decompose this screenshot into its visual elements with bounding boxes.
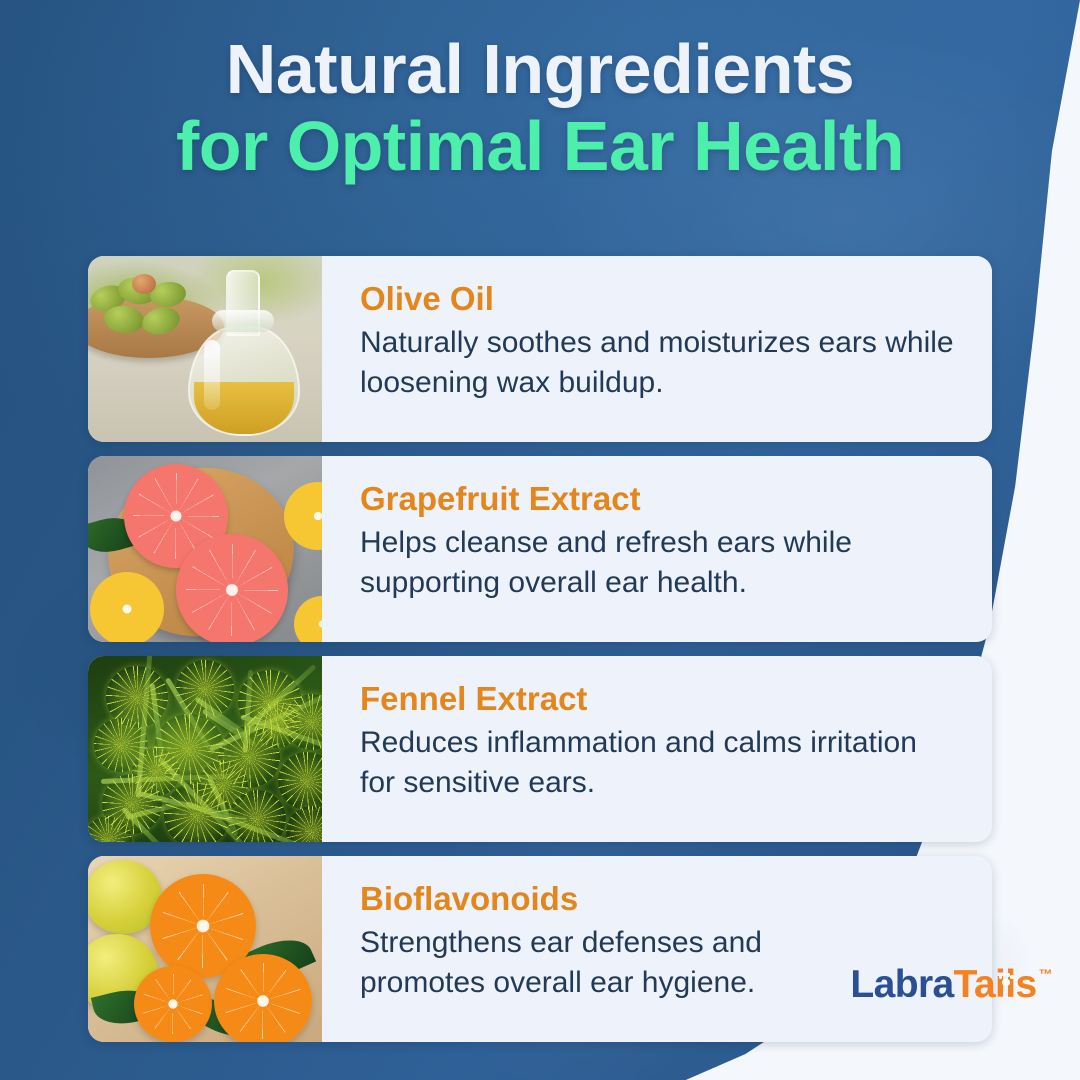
ingredient-card-list: Olive Oil Naturally soothes and moisturi… <box>88 256 992 1042</box>
olive-oil-text: Olive Oil Naturally soothes and moisturi… <box>322 256 992 442</box>
card-description: Helps cleanse and refresh ears while sup… <box>360 523 958 603</box>
trademark-symbol: ™ <box>1039 967 1052 981</box>
page-title: Natural Ingredients for Optimal Ear Heal… <box>0 34 1080 183</box>
ingredient-card-olive-oil[interactable]: Olive Oil Naturally soothes and moisturi… <box>88 256 992 442</box>
logo-text-labra: Labra <box>850 965 953 1004</box>
logo-tails-label: Tails <box>954 963 1037 1006</box>
card-title: Grapefruit Extract <box>360 482 958 517</box>
title-line-2: for Optimal Ear Health <box>0 111 1080 182</box>
card-title: Bioflavonoids <box>360 882 958 917</box>
infographic-poster: Natural Ingredients for Optimal Ear Heal… <box>0 0 1080 1080</box>
title-line-1: Natural Ingredients <box>0 34 1080 105</box>
olive-oil-image <box>88 256 322 442</box>
card-title: Olive Oil <box>360 282 958 317</box>
grapefruit-image <box>88 456 322 642</box>
bioflavonoids-image <box>88 856 322 1042</box>
card-description: Naturally soothes and moisturizes ears w… <box>360 323 958 403</box>
card-description: Strengthens ear defenses and promotes ov… <box>360 923 880 1003</box>
grapefruit-text: Grapefruit Extract Helps cleanse and ref… <box>322 456 992 642</box>
card-description: Reduces inflammation and calms irritatio… <box>360 723 958 803</box>
fennel-image <box>88 656 322 842</box>
ingredient-card-fennel-extract[interactable]: Fennel Extract Reduces inflammation and … <box>88 656 992 842</box>
ingredient-card-grapefruit-extract[interactable]: Grapefruit Extract Helps cleanse and ref… <box>88 456 992 642</box>
ingredient-card-bioflavonoids[interactable]: Bioflavonoids Strengthens ear defenses a… <box>88 856 992 1042</box>
fennel-text: Fennel Extract Reduces inflammation and … <box>322 656 992 842</box>
paw-print-icon <box>999 973 1014 986</box>
logo-text-tails: Tails <box>954 965 1037 1004</box>
bioflavonoids-text: Bioflavonoids Strengthens ear defenses a… <box>322 856 992 1042</box>
brand-logo[interactable]: Labra Tails ™ <box>850 965 1052 1004</box>
card-title: Fennel Extract <box>360 682 958 717</box>
